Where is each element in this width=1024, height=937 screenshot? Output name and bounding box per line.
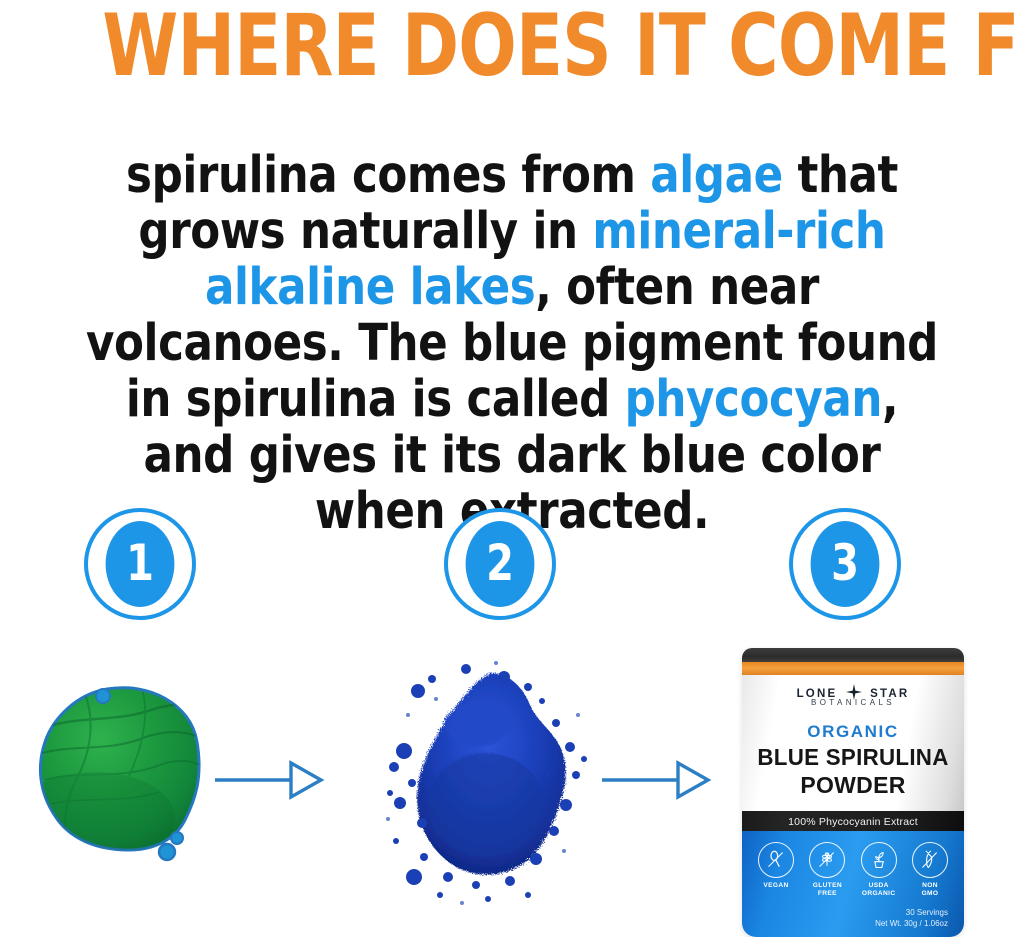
badge-ring: [861, 842, 897, 878]
step-badge-1-number: 1: [106, 521, 175, 607]
badge-gluten-label-1: GLUTEN: [813, 882, 842, 889]
fish-icon: [920, 850, 940, 870]
paragraph-text: spirulina comes from: [126, 146, 650, 205]
potted-plant-icon: [869, 850, 889, 870]
arrow-right-icon-1: [213, 757, 325, 803]
brand-subtitle: BOTANICALS: [742, 698, 964, 707]
algae-illustration: [25, 680, 225, 890]
badge-usda-label-2: ORGANIC: [862, 890, 896, 897]
package-organic-label: ORGANIC: [742, 722, 964, 742]
package-shape: LONE STAR BOTANICALS ORGANIC BLUE SPIRUL…: [742, 648, 964, 937]
arrow-right-icon-2: [600, 757, 712, 803]
package-product-name-line2: POWDER: [742, 772, 964, 799]
step-1: 1: [25, 508, 255, 628]
badge-vegan: VEGAN: [752, 842, 800, 898]
package-extract-band: 100% Phycocyanin Extract: [742, 811, 964, 832]
package-servings: 30 Servings: [875, 907, 948, 918]
step-badge-3-number: 3: [811, 521, 880, 607]
product-package: LONE STAR BOTANICALS ORGANIC BLUE SPIRUL…: [742, 648, 964, 937]
step-3: 3: [730, 508, 960, 628]
step-badge-1: 1: [84, 508, 196, 620]
package-footer: 30 Servings Net Wt. 30g / 1.06oz: [875, 907, 948, 929]
step-2: 2: [385, 508, 615, 628]
package-extract-text: 100% Phycocyanin Extract: [788, 816, 918, 828]
step-badge-2: 2: [444, 508, 556, 620]
body-paragraph: spirulina comes from algae that grows na…: [85, 148, 940, 540]
paragraph-highlight: phycocyan: [625, 370, 882, 429]
badge-gluten-label-2: FREE: [818, 890, 837, 897]
blue-powder-illustration: [378, 655, 608, 910]
step-badge-3: 3: [789, 508, 901, 620]
wheat-icon: [817, 850, 837, 870]
package-product-name-line1: BLUE SPIRULINA: [745, 744, 960, 771]
badge-usda-organic: USDA ORGANIC: [855, 842, 903, 898]
badge-non-gmo: NON GMO: [906, 842, 954, 898]
badge-gluten-free: GLUTEN FREE: [803, 842, 851, 898]
badge-ring: [758, 842, 794, 878]
badge-usda-label-1: USDA: [869, 882, 889, 889]
badge-ring: [912, 842, 948, 878]
paragraph-highlight: algae: [650, 146, 782, 205]
spoon-icon: [766, 850, 786, 870]
badge-gmo-label-2: GMO: [922, 890, 939, 897]
badge-gmo-label-1: NON: [922, 882, 938, 889]
page-title: WHERE DOES IT COME FROM?: [102, 0, 921, 98]
step-badge-2-number: 2: [466, 521, 535, 607]
package-net-weight: Net Wt. 30g / 1.06oz: [875, 918, 948, 929]
package-certification-badges: VEGAN: [752, 842, 954, 898]
badge-vegan-label: VEGAN: [763, 882, 788, 889]
badge-ring: [809, 842, 845, 878]
